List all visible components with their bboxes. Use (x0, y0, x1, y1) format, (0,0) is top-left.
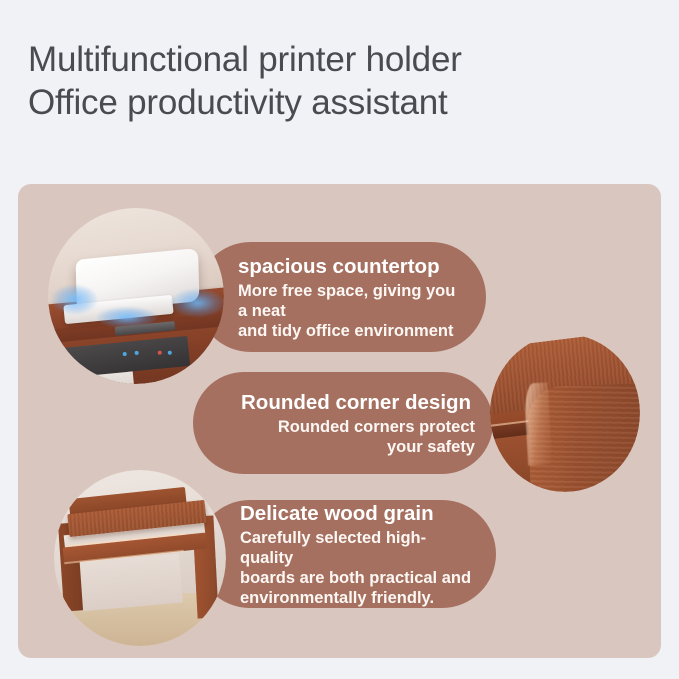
feature-body-line-1: Carefully selected high-quality (240, 528, 476, 568)
rounded-wood-corner-photo (490, 334, 640, 492)
feature-callout-rounded-corner-design: Rounded corner design Rounded corners pr… (193, 372, 493, 474)
feature-title-spacious-countertop: spacious countertop (238, 254, 460, 279)
printer-photo-glow-left (52, 285, 98, 313)
feature-body-line-1: Rounded corners protect (237, 417, 475, 437)
feature-body-line-2: boards are both practical and (240, 568, 476, 588)
title-line-2: Office productivity assistant (28, 81, 648, 124)
printer-photo-glow-right (171, 289, 224, 317)
title-line-1: Multifunctional printer holder (28, 38, 648, 81)
feature-body-line-3: environmentally friendly. (240, 588, 476, 608)
feature-callout-spacious-countertop: spacious countertop More free space, giv… (196, 242, 486, 352)
stand-photo-inner (54, 470, 226, 646)
feature-panel: spacious countertop More free space, giv… (18, 184, 661, 658)
feature-title-rounded-corner-design: Rounded corner design (237, 390, 475, 415)
printer-photo-indicator-blue-3 (168, 350, 172, 354)
printer-on-shelf-photo (48, 208, 224, 384)
feature-body-line-1: More free space, giving you a neat (238, 281, 460, 321)
printer-photo-indicator-red (158, 350, 162, 354)
printer-photo-inner (48, 208, 224, 384)
printer-photo-indicator-blue-2 (135, 351, 139, 355)
feature-body-line-2: and tidy office environment (238, 321, 460, 341)
feature-title-delicate-wood-grain: Delicate wood grain (240, 501, 476, 526)
corner-photo-edge-highlight (524, 382, 552, 465)
page-title: Multifunctional printer holder Office pr… (28, 38, 648, 124)
feature-body-line-2: your safety (237, 437, 475, 457)
corner-photo-inner (490, 334, 640, 492)
feature-callout-delicate-wood-grain: Delicate wood grain Carefully selected h… (196, 500, 496, 608)
printer-photo-indicator-blue (122, 352, 126, 356)
wooden-printer-stand-photo (54, 470, 226, 646)
stand-photo-under-space (76, 554, 183, 612)
